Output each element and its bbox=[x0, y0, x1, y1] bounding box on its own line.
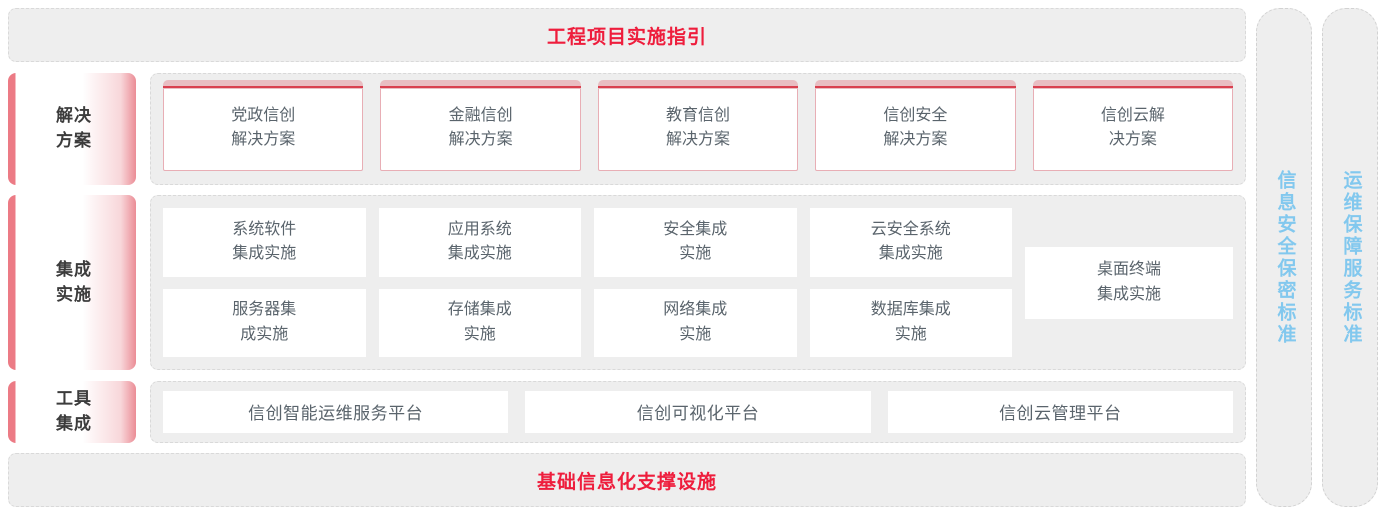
solution-card-line2: 解决方案 bbox=[449, 131, 513, 148]
solution-card-line1: 党政信创 bbox=[231, 107, 295, 124]
solution-card-text: 信创安全 解决方案 bbox=[883, 104, 947, 153]
page-title: 工程项目实施指引 bbox=[547, 22, 707, 49]
integration-card-text: 桌面终端 集成实施 bbox=[1097, 258, 1161, 307]
standard-information-security[interactable]: 信息安全保密标准 bbox=[1256, 8, 1312, 507]
integration-card[interactable]: 服务器集 成实施 bbox=[163, 289, 366, 358]
standard-label: 运维保障服务标准 bbox=[1337, 170, 1364, 346]
diagram-root: 工程项目实施指引 解决 方案 党政信创 解决方案 金融信创 bbox=[0, 0, 1390, 515]
integration-card-line1: 桌面终端 bbox=[1097, 261, 1161, 278]
row-label-solutions-line2: 方案 bbox=[56, 131, 92, 150]
solution-card[interactable]: 党政信创 解决方案 bbox=[163, 87, 363, 171]
footer-banner: 基础信息化支撑设施 bbox=[8, 453, 1246, 507]
solution-card-line1: 信创安全 bbox=[883, 107, 947, 124]
solution-card-line1: 信创云解 bbox=[1101, 107, 1165, 124]
integration-card-line2: 实施 bbox=[679, 245, 711, 262]
solution-card[interactable]: 金融信创 解决方案 bbox=[380, 87, 580, 171]
integration-card-text: 服务器集 成实施 bbox=[232, 298, 296, 347]
integration-card-line1: 存储集成 bbox=[448, 301, 512, 318]
tool-card[interactable]: 信创智能运维服务平台 bbox=[163, 391, 508, 433]
solution-card[interactable]: 信创安全 解决方案 bbox=[815, 87, 1015, 171]
tool-card[interactable]: 信创可视化平台 bbox=[525, 391, 870, 433]
row-label-integration-text: 集成 实施 bbox=[52, 258, 92, 307]
solution-card-line2: 解决方案 bbox=[666, 131, 730, 148]
integration-card[interactable]: 安全集成 实施 bbox=[594, 208, 797, 277]
footer-title: 基础信息化支撑设施 bbox=[537, 467, 717, 494]
row-tools: 工具 集成 信创智能运维服务平台 信创可视化平台 信创云管理平台 bbox=[8, 381, 1246, 443]
solution-card-line2: 解决方案 bbox=[231, 131, 295, 148]
solution-card-text: 信创云解 决方案 bbox=[1101, 104, 1165, 153]
row-label-integration-line1: 集成 bbox=[56, 260, 92, 279]
solution-card[interactable]: 教育信创 解决方案 bbox=[598, 87, 798, 171]
integration-card-line1: 服务器集 bbox=[232, 301, 296, 318]
panel-tools: 信创智能运维服务平台 信创可视化平台 信创云管理平台 bbox=[150, 381, 1246, 443]
solution-card[interactable]: 信创云解 决方案 bbox=[1033, 87, 1233, 171]
integration-card-text: 系统软件 集成实施 bbox=[232, 218, 296, 267]
panel-solutions: 党政信创 解决方案 金融信创 解决方案 教育信创 解决方案 bbox=[150, 73, 1246, 185]
integration-card[interactable]: 网络集成 实施 bbox=[594, 289, 797, 358]
solution-card-line1: 金融信创 bbox=[449, 107, 513, 124]
integration-card-line1: 云安全系统 bbox=[871, 221, 951, 238]
integration-card-line2: 实施 bbox=[679, 326, 711, 343]
integration-card[interactable]: 系统软件 集成实施 bbox=[163, 208, 366, 277]
integration-card-line2: 实施 bbox=[895, 326, 927, 343]
integration-card-text: 存储集成 实施 bbox=[448, 298, 512, 347]
row-label-solutions-text: 解决 方案 bbox=[52, 104, 92, 153]
solution-card-text: 党政信创 解决方案 bbox=[231, 104, 295, 153]
integration-card[interactable]: 数据库集成 实施 bbox=[810, 289, 1013, 358]
solution-card-line1: 教育信创 bbox=[666, 107, 730, 124]
row-label-tools: 工具 集成 bbox=[8, 381, 136, 443]
integration-side-slot: 桌面终端 集成实施 bbox=[1025, 208, 1233, 357]
header-banner: 工程项目实施指引 bbox=[8, 8, 1246, 62]
row-label-solutions-line1: 解决 bbox=[56, 106, 92, 125]
main-column: 工程项目实施指引 解决 方案 党政信创 解决方案 金融信创 bbox=[8, 8, 1246, 507]
row-integration: 集成 实施 系统软件 集成实施 应用系统 集成实施 bbox=[8, 195, 1246, 370]
solution-card-line2: 决方案 bbox=[1109, 131, 1157, 148]
row-label-integration-line2: 实施 bbox=[56, 285, 92, 304]
integration-card-line1: 数据库集成 bbox=[871, 301, 951, 318]
tool-card[interactable]: 信创云管理平台 bbox=[888, 391, 1233, 433]
row-label-tools-line2: 集成 bbox=[56, 414, 92, 433]
integration-card-text: 应用系统 集成实施 bbox=[448, 218, 512, 267]
integration-card-line2: 成实施 bbox=[240, 326, 288, 343]
standard-label: 信息安全保密标准 bbox=[1271, 170, 1298, 346]
integration-card-line1: 系统软件 bbox=[232, 221, 296, 238]
standards-column: 信息安全保密标准 运维保障服务标准 bbox=[1256, 8, 1378, 507]
integration-card-line2: 实施 bbox=[464, 326, 496, 343]
panel-integration: 系统软件 集成实施 应用系统 集成实施 安全集成 实施 bbox=[150, 195, 1246, 370]
integration-grid: 系统软件 集成实施 应用系统 集成实施 安全集成 实施 bbox=[163, 208, 1012, 357]
integration-card-line2: 集成实施 bbox=[232, 245, 296, 262]
row-label-tools-text: 工具 集成 bbox=[52, 387, 92, 436]
integration-card-text: 云安全系统 集成实施 bbox=[871, 218, 951, 267]
tool-card-label: 信创智能运维服务平台 bbox=[248, 399, 423, 424]
integration-card[interactable]: 云安全系统 集成实施 bbox=[810, 208, 1013, 277]
integration-card-line2: 集成实施 bbox=[879, 245, 943, 262]
integration-card-text: 网络集成 实施 bbox=[663, 298, 727, 347]
integration-card[interactable]: 应用系统 集成实施 bbox=[379, 208, 582, 277]
standard-operations-service[interactable]: 运维保障服务标准 bbox=[1322, 8, 1378, 507]
integration-card[interactable]: 存储集成 实施 bbox=[379, 289, 582, 358]
solution-card-text: 金融信创 解决方案 bbox=[449, 104, 513, 153]
integration-card-desktop-terminal[interactable]: 桌面终端 集成实施 bbox=[1025, 247, 1233, 319]
solution-card-line2: 解决方案 bbox=[883, 131, 947, 148]
integration-card-text: 数据库集成 实施 bbox=[871, 298, 951, 347]
row-solutions: 解决 方案 党政信创 解决方案 金融信创 解决方案 bbox=[8, 73, 1246, 185]
integration-card-line1: 安全集成 bbox=[663, 221, 727, 238]
integration-card-line2: 集成实施 bbox=[448, 245, 512, 262]
integration-card-line2: 集成实施 bbox=[1097, 286, 1161, 303]
row-label-integration: 集成 实施 bbox=[8, 195, 136, 370]
solution-card-text: 教育信创 解决方案 bbox=[666, 104, 730, 153]
row-label-tools-line1: 工具 bbox=[56, 389, 92, 408]
integration-card-line1: 网络集成 bbox=[663, 301, 727, 318]
integration-card-text: 安全集成 实施 bbox=[663, 218, 727, 267]
integration-card-line1: 应用系统 bbox=[448, 221, 512, 238]
row-label-solutions: 解决 方案 bbox=[8, 73, 136, 185]
tool-card-label: 信创可视化平台 bbox=[637, 399, 760, 424]
tool-card-label: 信创云管理平台 bbox=[999, 399, 1122, 424]
